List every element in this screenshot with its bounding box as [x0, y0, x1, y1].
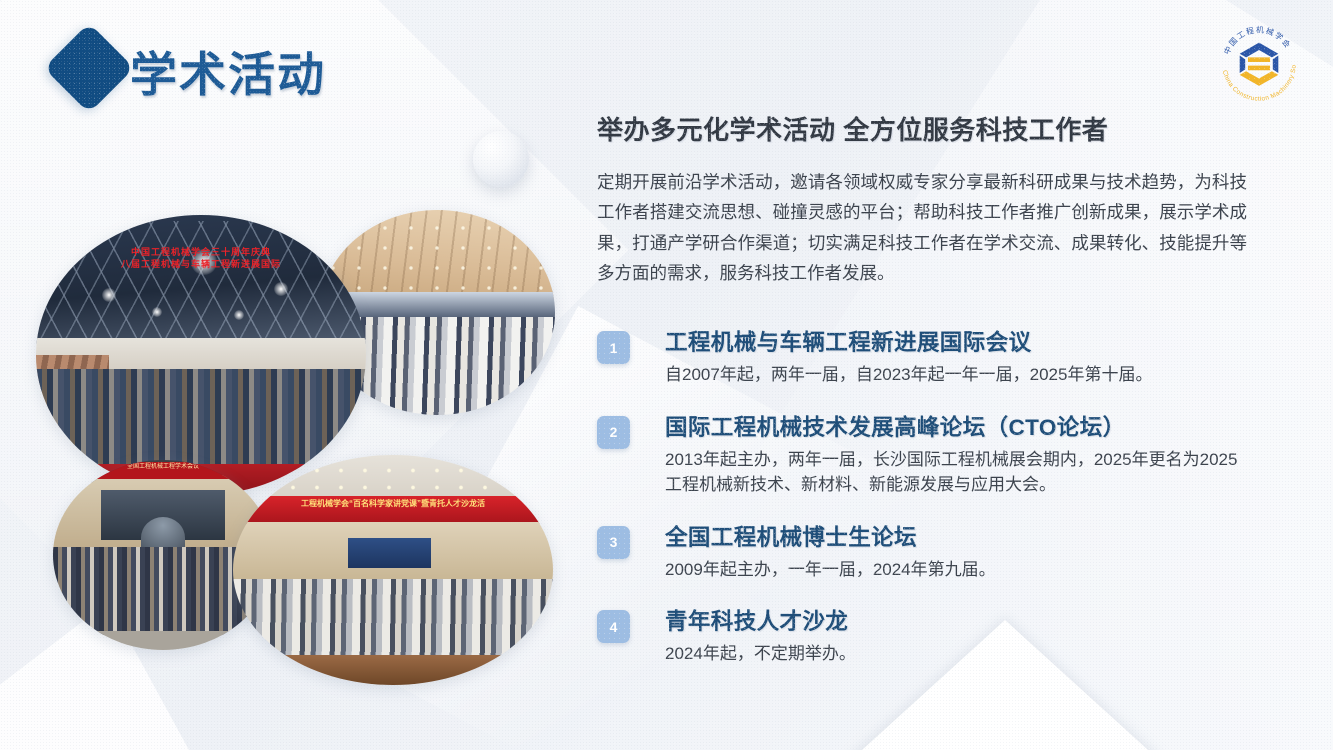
list-item[interactable]: 1 工程机械与车辆工程新进展国际会议 自2007年起，两年一届，自2023年起一…: [597, 325, 1247, 388]
photo-caption-line1: 中国工程机械学会三十周年庆典: [49, 246, 353, 258]
item-number-badge: 1: [597, 331, 630, 364]
photo-conference-anniversary: 中国工程机械学会三十周年庆典 八届工程机械与车辆工程新进展国际: [36, 215, 366, 495]
item-description: 自2007年起，两年一届，自2023年起一年一届，2025年第十届。: [665, 362, 1247, 388]
item-description: 2024年起，不定期举办。: [665, 641, 1247, 667]
photo-caption-party-lecture: 工程机械学会“百名科学家讲党课”暨青托人才沙龙活: [239, 496, 546, 524]
society-logo-icon: 中国工程机械学会 China Construction Machinery So…: [1213, 16, 1305, 108]
item-title: 全国工程机械博士生论坛: [665, 520, 1247, 552]
photo-caption-outdoor: 全国工程机械工程学术会议: [66, 462, 260, 479]
item-number-badge: 4: [597, 610, 630, 643]
item-title: 国际工程机械技术发展高峰论坛（CTO论坛）: [665, 410, 1247, 442]
item-number-badge: 3: [597, 526, 630, 559]
activity-list: 1 工程机械与车辆工程新进展国际会议 自2007年起，两年一届，自2023年起一…: [597, 325, 1247, 689]
item-title: 青年科技人才沙龙: [665, 604, 1247, 636]
page-title: 学术活动: [130, 36, 326, 105]
diamond-icon: [44, 23, 135, 114]
list-item[interactable]: 4 青年科技人才沙龙 2024年起，不定期举办。: [597, 604, 1247, 667]
decorative-sphere: [473, 131, 529, 187]
photo-collage: 中国工程机械学会三十周年庆典 八届工程机械与车辆工程新进展国际: [18, 205, 558, 675]
lead-paragraph: 定期开展前沿学术活动，邀请各领域权威专家分享最新科研成果与技术趋势，为科技工作者…: [597, 167, 1247, 288]
item-title: 工程机械与车辆工程新进展国际会议: [665, 325, 1247, 357]
photo-party-lecture: 工程机械学会“百名科学家讲党课”暨青托人才沙龙活: [233, 455, 553, 685]
content-block: 举办多元化学术活动 全方位服务科技工作者 定期开展前沿学术活动，邀请各领域权威专…: [597, 110, 1247, 288]
item-number-badge: 2: [597, 416, 630, 449]
list-item[interactable]: 3 全国工程机械博士生论坛 2009年起主办，一年一届，2024年第九届。: [597, 520, 1247, 583]
photo-caption-line2: 八届工程机械与车辆工程新进展国际: [49, 258, 353, 270]
slide-header: 学术活动 中国工程机械学会 China Construction Machine…: [0, 0, 1333, 120]
lead-title: 举办多元化学术活动 全方位服务科技工作者: [597, 110, 1247, 147]
item-description: 2009年起主办，一年一届，2024年第九届。: [665, 557, 1247, 583]
slide-root: 学术活动 中国工程机械学会 China Construction Machine…: [0, 0, 1333, 750]
list-item[interactable]: 2 国际工程机械技术发展高峰论坛（CTO论坛） 2013年起主办，两年一届，长沙…: [597, 410, 1247, 498]
item-description: 2013年起主办，两年一届，长沙国际工程机械展会期内，2025年更名为2025工…: [665, 447, 1247, 498]
svg-text:中国工程机械学会: 中国工程机械学会: [1221, 24, 1293, 55]
